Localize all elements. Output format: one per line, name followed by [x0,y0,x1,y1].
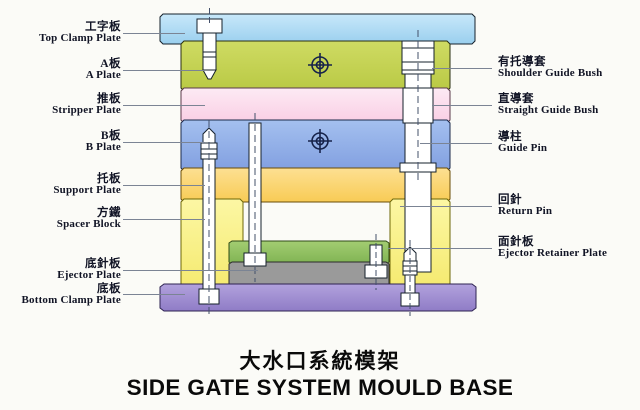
leader-line-guide-pin [420,143,492,144]
diagram-page: 工字板 Top Clamp Plate A板 A Plate 推板 Stripp… [0,0,640,410]
label-spacer-block: 方鐵 Spacer Block [57,207,121,231]
component-straight-guide-bush [403,88,433,123]
label-en: Top Clamp Plate [39,33,121,45]
label-en: Return Pin [498,206,552,218]
leader-line-a-plate [123,70,205,71]
leader-line-b-plate [123,142,205,143]
leader-line-bottom-clamp-plate [123,294,185,295]
leader-line-ejector-plate [123,270,258,271]
diagram-title: 大水口系統模架 SIDE GATE SYSTEM MOULD BASE [0,348,640,402]
label-en: Ejector Plate [57,270,121,282]
label-return-pin: 回針 Return Pin [498,194,552,218]
label-en: Stripper Plate [52,105,121,117]
label-bottom-clamp-plate: 底板 Bottom Clamp Plate [21,283,121,307]
label-en: B Plate [86,142,121,154]
label-stripper-plate: 推板 Stripper Plate [52,93,121,117]
label-en: Straight Guide Bush [498,105,598,117]
label-en: A Plate [86,70,121,82]
leader-line-return-pin [400,206,492,207]
leader-line-spacer-block [123,219,205,220]
label-b-plate: B板 B Plate [86,130,121,154]
label-en: Shoulder Guide Bush [498,68,602,80]
title-english: SIDE GATE SYSTEM MOULD BASE [0,374,640,402]
title-chinese: 大水口系統模架 [0,348,640,374]
label-a-plate: A板 A Plate [86,58,121,82]
component-guide-pin [400,30,436,272]
leader-line-top-clamp-plate [123,33,185,34]
label-guide-pin: 導柱 Guide Pin [498,131,547,155]
leader-line-ejector-retainer-plate [388,248,492,249]
label-en: Bottom Clamp Plate [21,295,121,307]
label-ejector-retainer-plate: 面針板 Ejector Retainer Plate [498,236,607,260]
label-support-plate: 托板 Support Plate [53,173,121,197]
leader-line-support-plate [123,185,205,186]
label-straight-guide-bush: 直導套 Straight Guide Bush [498,93,598,117]
label-en: Spacer Block [57,219,121,231]
leader-line-shoulder-guide-bush [432,68,492,69]
leader-line-stripper-plate [123,105,205,106]
label-en: Ejector Retainer Plate [498,248,607,260]
label-top-clamp-plate: 工字板 Top Clamp Plate [39,21,121,45]
label-en: Guide Pin [498,143,547,155]
label-shoulder-guide-bush: 有托導套 Shoulder Guide Bush [498,56,602,80]
leader-line-straight-guide-bush [432,105,492,106]
label-en: Support Plate [53,185,121,197]
label-ejector-plate: 底針板 Ejector Plate [57,258,121,282]
